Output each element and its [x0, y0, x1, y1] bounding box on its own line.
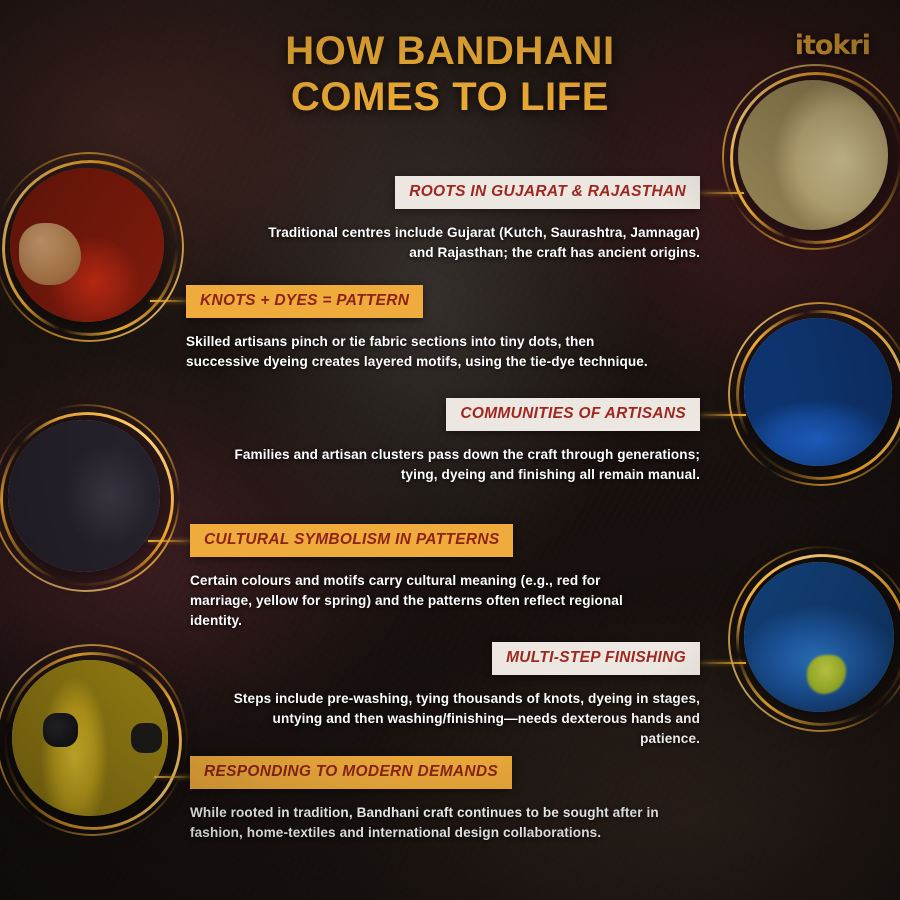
section-responding-to-modern-demands: RESPONDING TO MODERN DEMANDS While roote… [190, 756, 660, 843]
section-body-text: Steps include pre-washing, tying thousan… [230, 689, 700, 749]
photo-artwork [8, 420, 160, 572]
photo-artwork [738, 80, 888, 230]
section-multi-step-finishing: MULTI-STEP FINISHING Steps include pre-w… [230, 642, 700, 749]
photo-artwork [744, 318, 892, 466]
section-body-text: Traditional centres include Gujarat (Kut… [240, 223, 700, 263]
section-heading-badge[interactable]: RESPONDING TO MODERN DEMANDS [190, 756, 512, 789]
section-cultural-symbolism-in-patterns: CULTURAL SYMBOLISM IN PATTERNS Certain c… [190, 524, 650, 631]
photo-two-women-tying-bandhani-knots [738, 80, 888, 230]
section-body-text: Skilled artisans pinch or tie fabric sec… [186, 332, 656, 372]
section-knots-dyes-pattern: KNOTS + DYES = PATTERN Skilled artisans … [186, 285, 656, 372]
photo-artwork [10, 168, 164, 322]
section-heading-badge[interactable]: KNOTS + DYES = PATTERN [186, 285, 423, 318]
section-communities-of-artisans: COMMUNITIES OF ARTISANS Families and art… [200, 398, 700, 485]
section-body-text: Families and artisan clusters pass down … [200, 445, 700, 485]
section-heading-badge[interactable]: MULTI-STEP FINISHING [492, 642, 700, 675]
photo-artwork [744, 562, 894, 712]
section-roots-in-gujarat-rajasthan: ROOTS IN GUJARAT & RAJASTHAN Traditional… [240, 176, 700, 263]
connector-line-1 [700, 192, 744, 194]
section-body-text: While rooted in tradition, Bandhani craf… [190, 803, 660, 843]
connector-line-5 [700, 662, 746, 664]
photo-artisan-dyeing-cloth-in-blue-vat [744, 318, 892, 466]
connector-line-4 [148, 540, 192, 542]
brand-logo[interactable]: itokri [795, 30, 870, 61]
photo-elder-women-tying-fabric [8, 420, 160, 572]
section-heading-badge[interactable]: COMMUNITIES OF ARTISANS [446, 398, 700, 431]
section-body-text: Certain colours and motifs carry cultura… [190, 571, 650, 631]
section-heading-badge[interactable]: ROOTS IN GUJARAT & RAJASTHAN [395, 176, 700, 209]
connector-line-3 [700, 414, 746, 416]
photo-indigo-dye-vat-with-fabric-bundles [744, 562, 894, 712]
photo-hands-tying-red-fabric-knots [10, 168, 164, 322]
bandhani-infographic-poster: HOW BANDHANI COMES TO LIFE itokri [0, 0, 900, 900]
photo-dyer-lifting-yellow-dyed-fabric [12, 660, 168, 816]
page-title-line1: HOW BANDHANI [285, 29, 614, 73]
photo-artwork [12, 660, 168, 816]
connector-line-6 [154, 776, 194, 778]
section-heading-badge[interactable]: CULTURAL SYMBOLISM IN PATTERNS [190, 524, 513, 557]
